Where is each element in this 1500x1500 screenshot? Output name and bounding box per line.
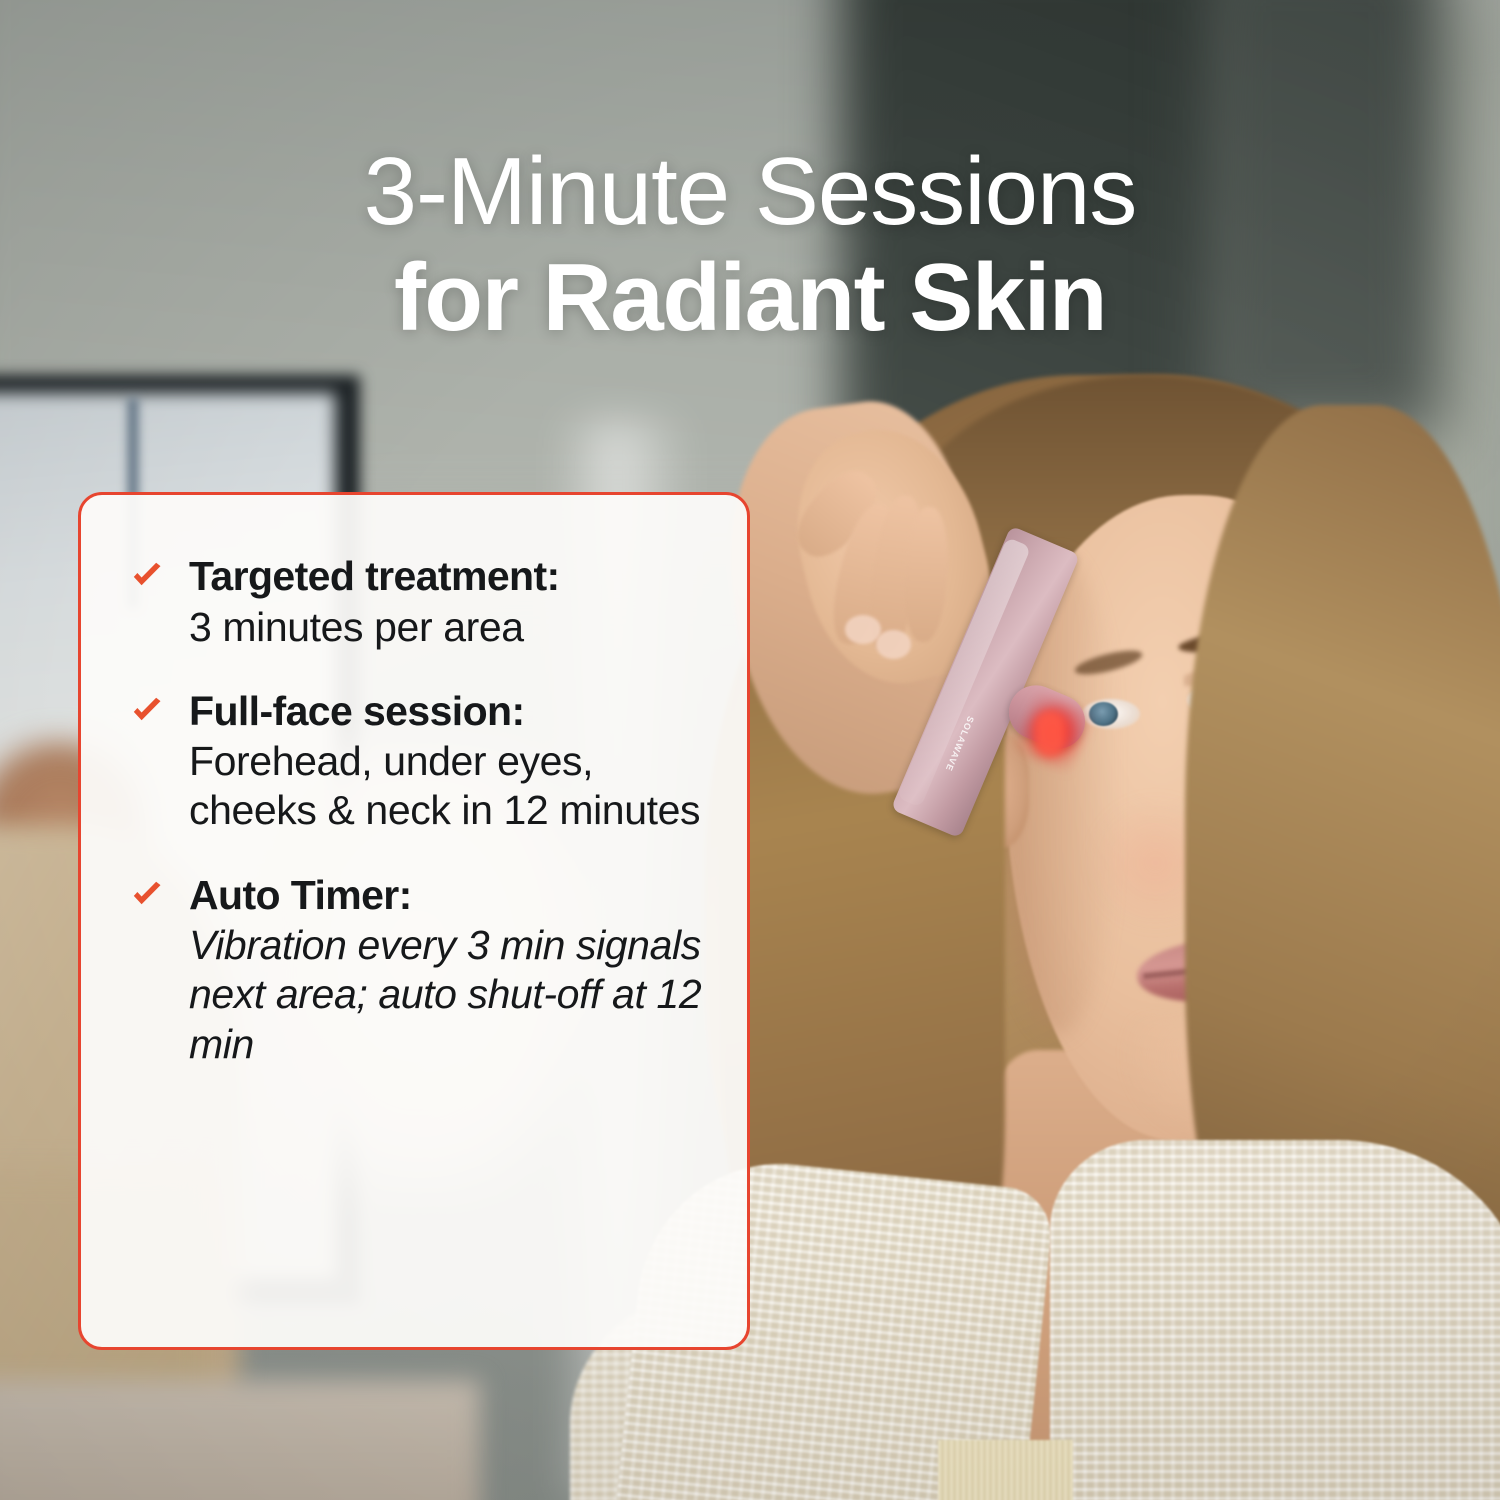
list-item: Auto Timer: Vibration every 3 min signal… — [129, 872, 707, 1069]
list-item-body: Forehead, under eyes, cheeks & neck in 1… — [189, 737, 707, 835]
checkmark-icon — [129, 558, 165, 594]
headline-line-1: 3-Minute Sessions — [0, 143, 1500, 241]
fingernail-2 — [876, 630, 911, 659]
cardigan-right-panel — [1050, 1140, 1500, 1500]
list-item: Targeted treatment: 3 minutes per area — [129, 553, 707, 652]
list-item-body: Vibration every 3 min signals next area;… — [189, 921, 707, 1069]
list-item-text: Auto Timer: Vibration every 3 min signal… — [189, 872, 707, 1069]
list-item-text: Targeted treatment: 3 minutes per area — [189, 553, 707, 652]
checkmark-icon — [129, 693, 165, 729]
list-item-body: 3 minutes per area — [189, 603, 707, 652]
feature-list-card: Targeted treatment: 3 minutes per area F… — [78, 492, 750, 1350]
list-item-text: Full-face session: Forehead, under eyes,… — [189, 688, 707, 836]
page-title: 3-Minute Sessions for Radiant Skin — [0, 143, 1500, 347]
fingernail-1 — [845, 615, 881, 644]
red-light-core — [1035, 711, 1065, 756]
checkmark-icon — [129, 877, 165, 913]
headline-line-2: for Radiant Skin — [0, 249, 1500, 347]
list-item-title: Auto Timer: — [189, 872, 707, 920]
list-item-title: Full-face session: — [189, 688, 707, 736]
waffle-texture-right — [1050, 1140, 1500, 1500]
list-item: Full-face session: Forehead, under eyes,… — [129, 688, 707, 836]
camisole — [938, 1440, 1073, 1500]
list-item-title: Targeted treatment: — [189, 553, 707, 601]
